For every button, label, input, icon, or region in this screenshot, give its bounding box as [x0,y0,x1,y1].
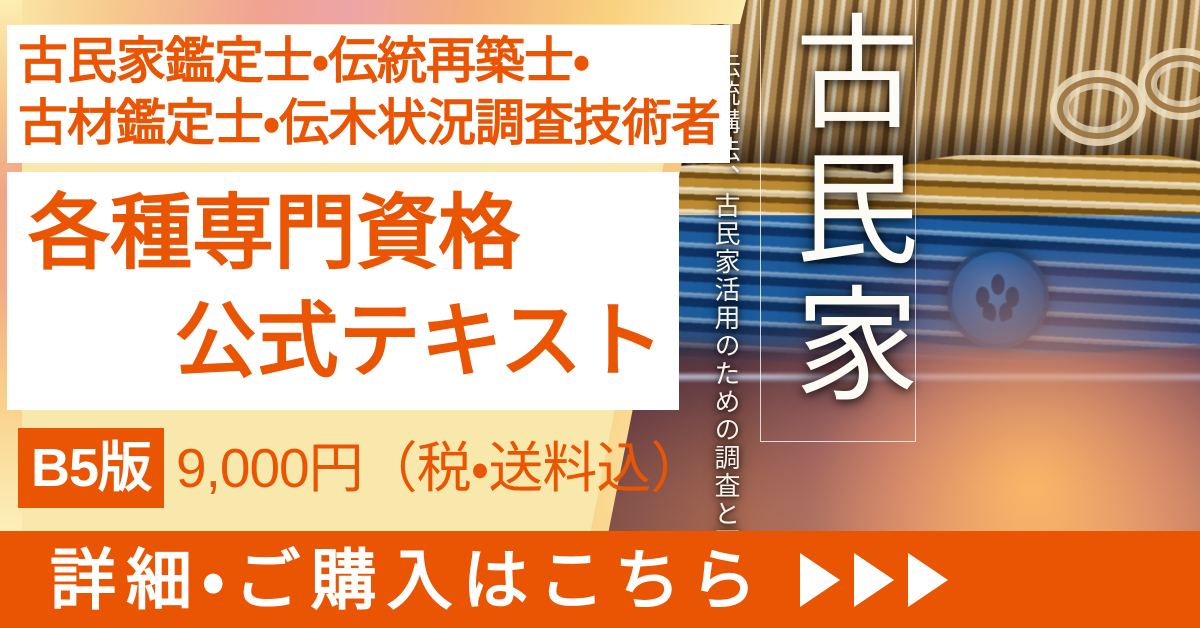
cta-label: 詳細・ご購入はこちら [50,547,766,613]
headline-line-1: 古民家鑑定士・伝統再築士・ [18,30,738,92]
triangle-right-icon [854,553,894,607]
cover-title: 古民家 [762,8,914,416]
main-title-line-1: 各種専門資格 [20,180,670,288]
qualification-headline: 古民家鑑定士・伝統再築士・ 古材鑑定士・伝木状況調査技術者 [18,30,738,154]
main-title: 各種専門資格 公式テキスト [20,180,670,396]
cta-bar[interactable]: 詳細・ご購入はこちら [0,531,1200,628]
price-text: 9,000円（税・送料込） [176,430,704,506]
triangle-right-icon [800,553,840,607]
format-badge: B5版 [18,428,164,508]
carved-swirl-icon [1050,70,1146,146]
promo-banner: 古民家 伝統構法、古民家活用のための調査と再生の 古民家鑑定士・伝統再築士・ 古… [0,0,1200,628]
cta-arrow-group [800,553,948,607]
main-title-line-2: 公式テキスト [20,288,670,396]
headline-line-2: 古材鑑定士・伝木状況調査技術者 [18,92,738,154]
triangle-right-icon [908,553,948,607]
top-gradient-strip [0,0,760,24]
